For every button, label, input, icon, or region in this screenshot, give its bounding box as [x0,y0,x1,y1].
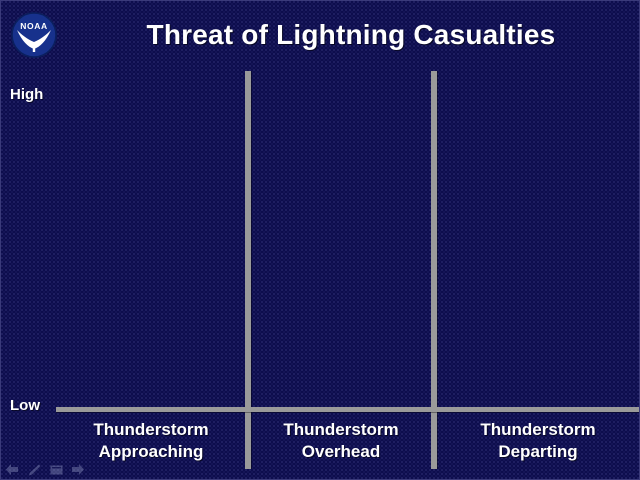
next-slide-button[interactable] [71,463,85,476]
arrow-left-icon [5,464,19,475]
menu-box-icon [50,465,63,475]
pencil-icon [28,464,41,476]
slide-canvas: NOAA Threat of Lightning Casualties High… [0,0,640,480]
noaa-wordmark: NOAA [20,21,47,31]
column-caption-line2: Departing [437,441,639,463]
column-caption-approaching: Thunderstorm Approaching [57,419,245,463]
axis-label-low: Low [10,397,40,414]
slide-title: Threat of Lightning Casualties [71,19,631,51]
column-caption-line1: Thunderstorm [437,419,639,441]
horizontal-axis-line [56,407,639,412]
noaa-logo: NOAA [10,11,58,59]
previous-slide-button[interactable] [5,463,19,476]
column-caption-line1: Thunderstorm [251,419,431,441]
column-caption-line2: Overhead [251,441,431,463]
axis-label-high: High [10,86,43,103]
slide-menu-button[interactable] [49,463,63,476]
pen-tool-button[interactable] [27,463,41,476]
slideshow-nav-bar[interactable] [5,463,85,476]
arrow-right-icon [71,464,85,475]
column-caption-overhead: Thunderstorm Overhead [251,419,431,463]
column-caption-line1: Thunderstorm [57,419,245,441]
noaa-logo-icon: NOAA [10,11,58,59]
column-caption-departing: Thunderstorm Departing [437,419,639,463]
column-caption-line2: Approaching [57,441,245,463]
